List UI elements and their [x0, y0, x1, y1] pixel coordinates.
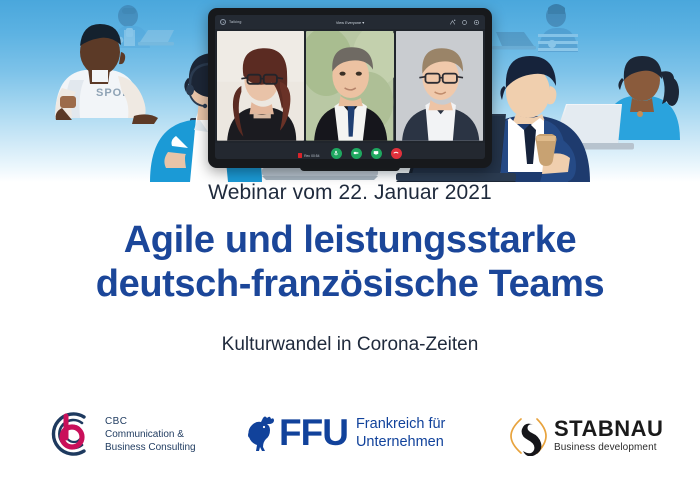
- video-call-screen: Talking View Everyone ▾: [215, 15, 485, 159]
- cbc-line-3: Business Consulting: [105, 441, 196, 454]
- cbc-line-1: CBC: [105, 415, 196, 428]
- video-camera-icon[interactable]: [351, 148, 362, 159]
- stabnau-s-mark: [508, 416, 548, 456]
- leave-control[interactable]: Leave: [391, 148, 402, 159]
- talking-status-label: Talking: [229, 20, 242, 24]
- chevron-down-icon: ▾: [362, 21, 364, 25]
- video-call-controls: Rec 00:54 Mic Camera: [215, 143, 485, 159]
- stabnau-wordmark: STABNAU: [554, 417, 663, 441]
- recording-label: Rec 00:54: [304, 154, 319, 158]
- refresh-icon[interactable]: [461, 19, 468, 26]
- french-rooster-icon: [247, 415, 277, 451]
- headline-line-1: Agile und leistungsstarke: [0, 218, 700, 262]
- phone-hangup-icon[interactable]: [391, 148, 402, 159]
- webinar-date-kicker: Webinar vom 22. Januar 2021: [0, 178, 700, 208]
- view-mode-label: View Everyone: [336, 21, 361, 25]
- screen-control[interactable]: Screen: [371, 148, 382, 159]
- active-speaker-icon: [220, 19, 226, 25]
- stabnau-tagline: Business development: [554, 441, 663, 455]
- cbc-circle-b-mark: [44, 408, 96, 460]
- mic-control[interactable]: Mic: [331, 148, 342, 159]
- microphone-icon[interactable]: [331, 148, 342, 159]
- record-stop-icon: [298, 153, 302, 158]
- logo-stabnau: STABNAU Business development: [508, 416, 663, 456]
- participant-tile-2[interactable]: [306, 31, 393, 141]
- cbc-line-2: Communication &: [105, 428, 196, 441]
- participant-grid: [215, 29, 485, 143]
- recording-indicator: Rec 00:54: [298, 153, 319, 158]
- talking-status: Talking: [220, 19, 242, 25]
- view-mode-dropdown[interactable]: View Everyone ▾: [215, 20, 485, 25]
- bg-figure-right-far: [492, 4, 578, 52]
- video-call-topbar: Talking View Everyone ▾: [215, 15, 485, 29]
- monitor-bezel: Talking View Everyone ▾: [208, 8, 492, 168]
- logo-cbc: CBC Communication & Business Consulting: [44, 408, 196, 460]
- webinar-banner: SPORT: [0, 0, 700, 494]
- ffu-line-2: Unternehmen: [356, 433, 445, 451]
- logo-ffu: FFU Frankreich für Unternehmen: [247, 414, 445, 452]
- screen-share-icon[interactable]: [371, 148, 382, 159]
- bg-figure-left-far: [112, 5, 174, 48]
- share-screen-icon[interactable]: [449, 19, 456, 26]
- settings-gear-icon[interactable]: [473, 19, 480, 26]
- participant-tile-3[interactable]: [396, 31, 483, 141]
- subline: Kulturwandel in Corona-Zeiten: [0, 332, 700, 358]
- participant-tile-1[interactable]: [217, 31, 304, 141]
- ffu-line-1: Frankreich für: [356, 415, 445, 433]
- camera-control[interactable]: Camera: [351, 148, 362, 159]
- headline-line-2: deutsch-französische Teams: [0, 262, 700, 306]
- text-block: Webinar vom 22. Januar 2021 Agile und le…: [0, 178, 700, 358]
- logo-strip: CBC Communication & Business Consulting …: [0, 400, 700, 476]
- ffu-abbreviation: FFU: [279, 414, 348, 452]
